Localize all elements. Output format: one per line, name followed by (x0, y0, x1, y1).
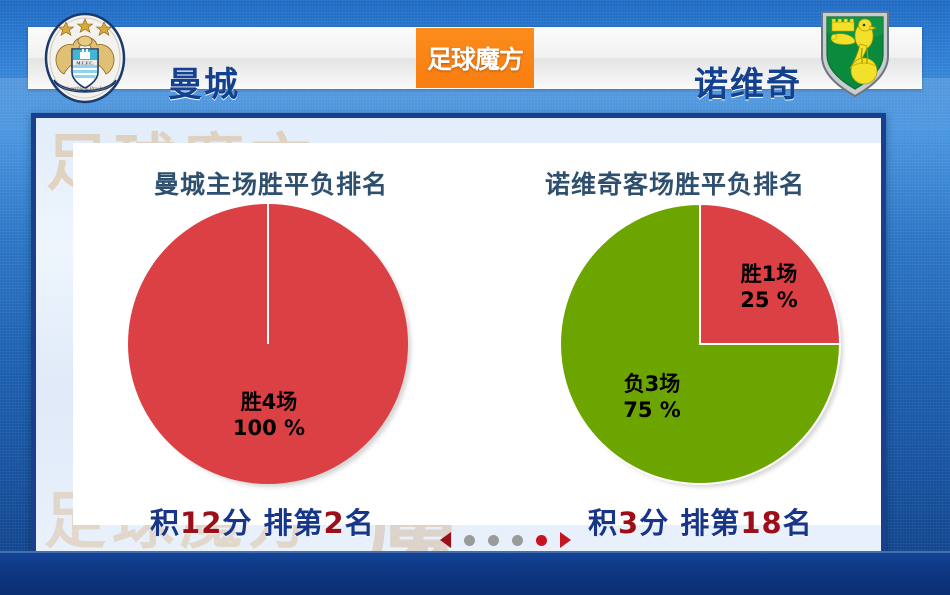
stats-panel: 足球魔方 足球魔方 魔 曼城主场胜平负排名 诺维奇客场胜平负排名 胜4场 100… (31, 113, 886, 560)
away-pie-label-win-text: 胜1场 25 % (740, 262, 798, 312)
pager-dot-1[interactable] (464, 535, 475, 546)
right-chart-title: 诺维奇客场胜平负排名 (485, 165, 865, 201)
away-rank-suffix: 名 (783, 506, 813, 540)
left-chart-title: 曼城主场胜平负排名 (81, 165, 461, 201)
bottom-strip (0, 551, 950, 595)
manchester-city-crest-icon: M.C.F.C. Superbia in Proelio (42, 8, 128, 104)
away-pie-label-loss-text: 负3场 75 % (623, 372, 681, 422)
pager-dot-3[interactable] (512, 535, 523, 546)
away-team-name: 诺维奇 (694, 57, 802, 106)
home-points-value: 12 (180, 506, 222, 540)
away-standing-summary: 积3分 排第18名 (588, 500, 813, 542)
charts-canvas: 曼城主场胜平负排名 诺维奇客场胜平负排名 胜4场 100 % 胜1场 25 % (73, 143, 886, 525)
away-rank-value: 18 (740, 506, 782, 540)
away-pie-label-win: 胜1场 25 % (699, 261, 839, 314)
away-pie-label-loss: 负3场 75 % (577, 371, 727, 424)
pager-dot-2[interactable] (488, 535, 499, 546)
football-cube-logo: 足球魔方 (416, 28, 534, 88)
home-rank-value: 2 (323, 506, 344, 540)
svg-text:Superbia in Proelio: Superbia in Proelio (65, 87, 105, 92)
home-rank-suffix: 名 (345, 506, 375, 540)
triangle-left-icon[interactable] (440, 532, 451, 548)
pager-dot-4[interactable] (536, 535, 547, 546)
triangle-right-icon[interactable] (560, 532, 571, 548)
home-team-name: 曼城 (168, 57, 240, 106)
norwich-city-crest-icon (812, 4, 898, 100)
away-pie-chart: 胜1场 25 % 负3场 75 % (559, 203, 849, 493)
home-points-prefix: 积 (150, 506, 180, 540)
away-rank-prefix: 分 排第 (639, 506, 740, 540)
away-points-value: 3 (618, 506, 639, 540)
logo-text: 足球魔方 (427, 40, 523, 76)
home-pie-label-win-text: 胜4场 100 % (233, 390, 305, 440)
carousel-pager[interactable] (440, 531, 600, 549)
home-rank-prefix: 分 排第 (222, 506, 323, 540)
home-pie-chart: 胜4场 100 % (127, 203, 417, 493)
svg-text:M.C.F.C.: M.C.F.C. (76, 60, 93, 65)
home-standing-summary: 积12分 排第2名 (150, 500, 375, 542)
home-pie-label-win: 胜4场 100 % (159, 389, 379, 442)
